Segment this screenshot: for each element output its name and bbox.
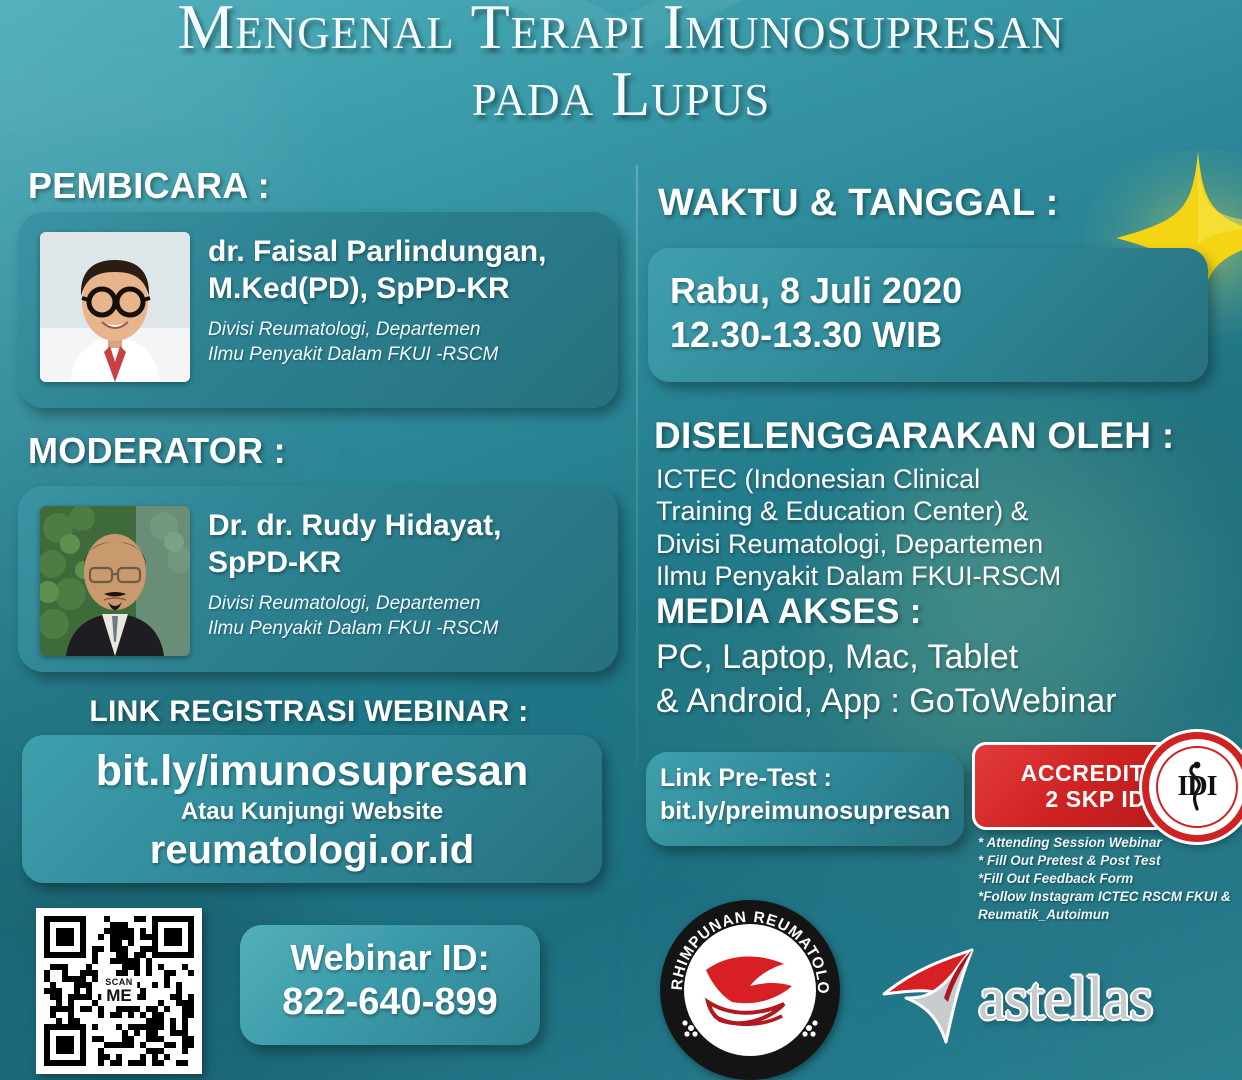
webinar-id-card: Webinar ID: 822-640-899	[240, 925, 540, 1045]
astellas-logo: astellas	[880, 940, 1240, 1050]
pretest-label: Link Pre-Test :	[646, 752, 964, 793]
webinar-poster: Mengenal Terapi Imunosupresan pada Lupus…	[0, 0, 1242, 1080]
registration-heading: LINK REGISTRASI WEBINAR :	[0, 695, 618, 729]
idi-logo: IDI	[1142, 732, 1242, 842]
speaker-name-line-1: dr. Faisal Parlindungan,	[208, 234, 602, 271]
registration-or-label: Atau Kunjungi Website	[22, 798, 602, 826]
qr-scan-me-label: SCAN ME	[101, 976, 137, 1006]
qr-me-text: ME	[105, 987, 133, 1004]
speaker-affiliation-line-2: Ilmu Penyakit Dalam FKUI -RSCM	[208, 342, 602, 367]
event-time: 12.30-13.30 WIB	[648, 312, 1208, 356]
moderator-heading: MODERATOR :	[28, 430, 286, 472]
organizer-heading: DISELENGGARAKAN OLEH :	[654, 415, 1175, 457]
speaker-affiliation: Divisi Reumatologi, Departemen Ilmu Peny…	[208, 317, 602, 367]
moderator-name-line-1: Dr. dr. Rudy Hidayat,	[208, 508, 602, 545]
moderator-details: Dr. dr. Rudy Hidayat, SpPD-KR Divisi Reu…	[208, 508, 602, 641]
requirement-item: * Attending Session Webinar	[978, 834, 1240, 852]
moderator-photo	[40, 506, 190, 656]
registration-link[interactable]: bit.ly/imunosupresan	[22, 735, 602, 796]
perhimpunan-reumatologi-indonesia-logo: PERHIMPUNAN REUMATOLOGI INDONESIA	[660, 900, 840, 1080]
pretest-link[interactable]: bit.ly/preimunosupresan	[646, 793, 964, 826]
organizer-line: ICTEC (Indonesian Clinical	[656, 463, 1196, 495]
title-line-2: pada Lupus	[0, 61, 1242, 128]
webinar-id-value: 822-640-899	[240, 981, 540, 1024]
speaker-name: dr. Faisal Parlindungan, M.Ked(PD), SpPD…	[208, 234, 602, 307]
registration-card[interactable]: bit.ly/imunosupresan Atau Kunjungi Websi…	[22, 735, 602, 883]
speaker-affiliation-line-1: Divisi Reumatologi, Departemen	[208, 317, 602, 342]
media-access-line-1: PC, Laptop, Mac, Tablet	[656, 638, 1018, 677]
requirement-item: *Follow Instagram ICTEC RSCM FKUI &	[978, 888, 1240, 906]
registration-website[interactable]: reumatologi.or.id	[22, 828, 602, 873]
requirement-item: * Fill Out Pretest & Post Test	[978, 852, 1240, 870]
moderator-name: Dr. dr. Rudy Hidayat, SpPD-KR	[208, 508, 602, 581]
moderator-card: Dr. dr. Rudy Hidayat, SpPD-KR Divisi Reu…	[18, 486, 618, 672]
moderator-name-line-2: SpPD-KR	[208, 545, 602, 582]
requirement-item: Reumatik_Autoimun	[978, 906, 1240, 924]
moderator-affiliation-line-2: Ilmu Penyakit Dalam FKUI -RSCM	[208, 616, 602, 641]
organizer-list: ICTEC (Indonesian Clinical Training & Ed…	[656, 463, 1196, 593]
media-access-heading: MEDIA AKSES :	[656, 592, 922, 632]
column-divider	[636, 165, 638, 765]
poster-title: Mengenal Terapi Imunosupresan pada Lupus	[0, 0, 1242, 127]
speaker-name-line-2: M.Ked(PD), SpPD-KR	[208, 271, 602, 308]
organizer-line: Ilmu Penyakit Dalam FKUI-RSCM	[656, 560, 1196, 592]
datetime-card: Rabu, 8 Juli 2020 12.30-13.30 WIB	[648, 248, 1208, 382]
moderator-affiliation: Divisi Reumatologi, Departemen Ilmu Peny…	[208, 591, 602, 641]
speaker-heading: PEMBICARA :	[28, 165, 270, 207]
speaker-photo	[40, 232, 190, 382]
webinar-id-label: Webinar ID:	[240, 925, 540, 979]
organizer-line: Training & Education Center) &	[656, 495, 1196, 527]
accreditation-requirements: * Attending Session Webinar * Fill Out P…	[978, 834, 1240, 924]
datetime-heading: WAKTU & TANGGAL :	[658, 182, 1059, 225]
media-access-line-2: & Android, App : GoToWebinar	[656, 682, 1117, 721]
idi-logo-ring: IDI	[1156, 746, 1238, 828]
qr-code[interactable]: SCAN ME	[36, 908, 202, 1074]
pri-logo-emblem	[684, 924, 816, 1056]
speaker-details: dr. Faisal Parlindungan, M.Ked(PD), SpPD…	[208, 234, 602, 367]
speaker-card: dr. Faisal Parlindungan, M.Ked(PD), SpPD…	[18, 212, 618, 408]
pretest-card[interactable]: Link Pre-Test : bit.ly/preimunosupresan	[646, 752, 964, 846]
moderator-affiliation-line-1: Divisi Reumatologi, Departemen	[208, 591, 602, 616]
organizer-line: Divisi Reumatologi, Departemen	[656, 528, 1196, 560]
title-line-1: Mengenal Terapi Imunosupresan	[177, 0, 1064, 62]
astellas-wordmark: astellas	[978, 964, 1153, 1035]
event-date: Rabu, 8 Juli 2020	[648, 248, 1208, 312]
requirement-item: *Fill Out Feedback Form	[978, 870, 1240, 888]
